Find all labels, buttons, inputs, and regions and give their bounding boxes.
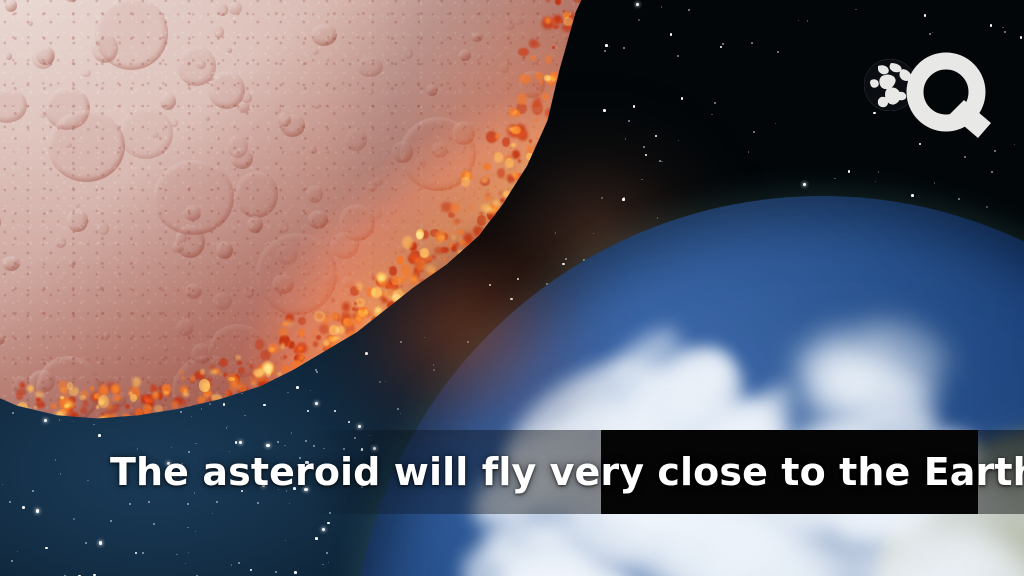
ember: [319, 324, 329, 334]
star: [1020, 36, 1023, 39]
star: [934, 182, 935, 183]
ember: [565, 71, 570, 76]
ember: [356, 282, 363, 291]
star: [932, 32, 933, 33]
ember: [228, 377, 235, 382]
ember: [296, 345, 307, 353]
ember: [535, 145, 542, 150]
ember: [551, 100, 561, 108]
star: [315, 537, 318, 540]
ember: [109, 414, 118, 423]
caption-text: The asteroid will fly very close to the …: [0, 430, 1024, 514]
ember: [366, 312, 371, 318]
star: [638, 19, 639, 20]
ember: [391, 322, 394, 325]
ember: [494, 152, 503, 163]
ember: [537, 174, 545, 183]
ember: [458, 250, 464, 255]
ember: [573, 55, 583, 67]
ember: [298, 329, 305, 338]
ember: [99, 416, 105, 423]
ember: [424, 289, 433, 298]
ember: [328, 335, 334, 340]
ember: [539, 80, 543, 84]
ember: [566, 43, 572, 47]
star: [195, 531, 196, 532]
star: [848, 170, 851, 173]
crater: [267, 399, 276, 407]
star: [633, 105, 636, 108]
ember: [110, 404, 120, 413]
ember: [512, 215, 516, 220]
ember: [511, 172, 516, 176]
star: [17, 551, 18, 552]
ember: [114, 395, 121, 402]
ember: [122, 414, 130, 423]
star: [176, 554, 177, 555]
ember: [425, 283, 432, 289]
ember: [355, 327, 358, 329]
ember: [210, 370, 216, 374]
ember: [298, 317, 307, 326]
ember: [238, 385, 248, 395]
ember: [516, 173, 524, 182]
crater: [8, 411, 19, 422]
ember: [338, 318, 341, 321]
ember: [482, 246, 486, 249]
ember: [563, 98, 567, 102]
ember: [563, 79, 569, 83]
ember: [431, 255, 437, 259]
ember: [546, 0, 550, 2]
ember: [51, 403, 57, 408]
ember: [190, 375, 196, 382]
brand-logo[interactable]: [858, 52, 998, 142]
ember: [410, 250, 420, 261]
star: [185, 563, 186, 564]
ember: [529, 39, 538, 47]
ember: [512, 150, 520, 159]
ember: [578, 24, 585, 29]
ember: [481, 242, 489, 251]
star: [135, 552, 138, 555]
ember: [400, 285, 403, 288]
ember: [342, 302, 350, 312]
ember: [154, 405, 163, 413]
ember: [420, 279, 426, 284]
ember: [269, 343, 278, 354]
ember: [268, 392, 278, 399]
ember: [238, 367, 245, 374]
ember: [434, 247, 442, 254]
ember: [502, 137, 510, 147]
ember: [80, 406, 87, 413]
ember: [97, 421, 101, 425]
star: [1004, 31, 1006, 33]
star: [681, 97, 684, 100]
crater: [505, 238, 509, 242]
ember: [199, 379, 210, 392]
ember: [281, 322, 288, 327]
ember: [534, 72, 544, 79]
star: [994, 150, 996, 152]
ember: [542, 93, 548, 100]
ember: [476, 236, 481, 241]
ember: [354, 302, 357, 305]
ember: [370, 334, 374, 338]
ember: [453, 221, 456, 224]
ember: [499, 213, 510, 222]
ember: [223, 396, 230, 404]
star: [328, 562, 329, 563]
ember: [573, 58, 577, 61]
ember: [68, 412, 79, 420]
ember: [69, 387, 79, 396]
ember: [561, 95, 568, 101]
ember: [577, 63, 582, 70]
star: [807, 20, 808, 21]
ember: [298, 375, 301, 378]
scene-canvas: The asteroid will fly very close to the …: [0, 0, 1024, 576]
ember: [509, 108, 517, 115]
ember: [565, 12, 576, 25]
ember: [336, 326, 345, 335]
ember: [511, 143, 515, 147]
star: [188, 552, 189, 553]
ember: [223, 373, 227, 377]
ember: [274, 378, 278, 382]
ember: [333, 352, 343, 364]
ember: [186, 406, 196, 417]
ember: [434, 271, 443, 280]
star: [775, 123, 776, 124]
ember: [530, 55, 535, 61]
ember: [329, 326, 334, 330]
ember: [538, 177, 543, 180]
star: [45, 547, 48, 550]
ember: [487, 209, 498, 221]
ember: [135, 408, 144, 419]
ember: [545, 17, 552, 24]
ember: [456, 233, 459, 235]
star: [142, 552, 144, 554]
crater: [172, 417, 177, 422]
star: [661, 161, 662, 162]
ember: [402, 236, 413, 249]
ember: [125, 404, 130, 409]
ember: [180, 370, 184, 374]
star: [636, 3, 639, 6]
ember: [420, 255, 431, 264]
ember: [375, 307, 381, 313]
ember: [573, 0, 581, 3]
ember: [417, 268, 424, 274]
ember: [289, 372, 297, 382]
ember: [313, 341, 318, 347]
star: [878, 171, 879, 172]
ember: [219, 358, 228, 367]
crater: [473, 274, 478, 280]
ember: [322, 343, 329, 349]
star: [678, 140, 679, 141]
ember: [562, 90, 566, 94]
ember: [546, 116, 549, 119]
star: [661, 6, 662, 7]
star: [322, 564, 323, 565]
star: [677, 55, 679, 57]
ember: [74, 406, 77, 409]
star: [609, 46, 610, 47]
star: [285, 540, 286, 541]
ember: [211, 394, 222, 403]
star: [722, 43, 724, 45]
ember: [17, 402, 28, 413]
ember: [283, 355, 287, 359]
star: [322, 528, 325, 531]
star: [748, 151, 749, 152]
ember: [151, 384, 155, 389]
star: [85, 542, 87, 544]
ember: [60, 387, 68, 395]
ember: [466, 244, 474, 251]
ember: [36, 397, 42, 402]
ember: [312, 360, 316, 365]
ember: [355, 308, 359, 312]
ember: [237, 361, 241, 364]
ember: [553, 25, 559, 29]
ember: [152, 392, 159, 399]
ember: [451, 244, 457, 252]
ember: [316, 335, 321, 339]
ember: [252, 373, 257, 379]
ember: [567, 61, 578, 69]
ember: [571, 62, 578, 71]
star: [604, 50, 606, 52]
ember: [485, 196, 492, 201]
ember: [563, 10, 566, 13]
ember: [491, 137, 498, 142]
star: [110, 520, 112, 522]
ember: [212, 402, 217, 407]
ember: [507, 125, 516, 137]
star: [238, 562, 240, 564]
ember: [366, 287, 377, 297]
ember: [391, 276, 401, 285]
ember: [111, 384, 120, 393]
ember: [371, 316, 379, 325]
ember: [430, 229, 440, 237]
ember: [325, 316, 330, 320]
crater: [547, 131, 559, 144]
ember: [162, 384, 170, 394]
ember: [556, 79, 566, 86]
ember: [392, 294, 401, 303]
ember: [441, 233, 447, 241]
ember: [451, 235, 456, 240]
star: [720, 46, 723, 49]
ember: [590, 29, 593, 33]
ember: [332, 299, 335, 302]
star: [326, 552, 328, 554]
star: [929, 33, 931, 35]
ember: [180, 407, 189, 415]
ember: [24, 423, 31, 430]
star: [628, 120, 630, 122]
ember: [34, 406, 38, 409]
ember: [505, 158, 514, 168]
ember: [112, 422, 120, 428]
ember: [181, 376, 185, 380]
ember: [96, 405, 100, 409]
star: [688, 9, 690, 11]
ember: [64, 404, 71, 412]
crater: [457, 270, 483, 294]
ember: [500, 198, 506, 203]
ember: [503, 191, 509, 198]
crater: [484, 239, 501, 255]
star: [327, 522, 330, 525]
star: [855, 9, 856, 10]
ember: [536, 98, 540, 101]
letter-q-mark: [915, 61, 991, 138]
ember: [426, 265, 436, 273]
ember: [529, 139, 532, 143]
ember: [372, 276, 376, 280]
star: [834, 178, 835, 179]
ember: [449, 232, 452, 235]
star: [250, 569, 253, 572]
ember: [487, 229, 492, 235]
ember: [285, 314, 294, 323]
ember: [77, 418, 85, 428]
star: [670, 33, 673, 36]
ember: [192, 411, 197, 415]
ember: [443, 258, 446, 261]
ember: [436, 275, 442, 280]
ember: [90, 386, 94, 391]
ember: [235, 355, 241, 360]
crater: [187, 411, 195, 419]
asteroid-ember-speckle: [0, 0, 600, 460]
ember: [523, 56, 526, 59]
ember: [484, 228, 487, 231]
ember: [560, 126, 567, 131]
ember: [480, 231, 487, 238]
ember: [199, 400, 203, 403]
ember: [470, 206, 473, 209]
ember: [552, 46, 555, 49]
ember: [529, 158, 540, 167]
ember: [497, 168, 506, 178]
ember: [277, 372, 282, 376]
star: [73, 518, 74, 519]
ember: [530, 170, 535, 174]
ember: [535, 119, 538, 122]
star: [991, 171, 993, 173]
star: [964, 156, 966, 158]
star: [99, 541, 102, 544]
ember: [47, 418, 55, 424]
star: [798, 20, 799, 21]
ember: [475, 238, 482, 244]
ember: [461, 177, 470, 186]
ember: [183, 392, 189, 397]
star: [751, 42, 753, 44]
star: [1002, 27, 1003, 28]
star: [711, 114, 712, 115]
ember: [389, 266, 397, 276]
ember: [342, 316, 350, 326]
ember: [494, 186, 497, 188]
ember: [568, 81, 573, 86]
ember: [517, 93, 527, 105]
ember: [252, 382, 256, 385]
star: [623, 47, 625, 49]
ember: [221, 398, 231, 409]
star: [655, 135, 658, 138]
ember: [250, 364, 254, 369]
ember: [16, 388, 26, 396]
ember: [519, 74, 530, 84]
ember: [480, 177, 490, 187]
ember: [294, 354, 304, 363]
star: [294, 571, 297, 574]
star: [275, 571, 277, 573]
ember: [536, 170, 544, 178]
ember: [83, 400, 88, 407]
ember: [255, 339, 264, 350]
crater: [563, 68, 573, 77]
star: [924, 14, 927, 17]
star: [625, 138, 626, 139]
ember: [397, 256, 404, 264]
ember: [109, 398, 113, 402]
star: [919, 143, 922, 146]
star: [753, 131, 755, 133]
ember: [560, 20, 564, 24]
star: [643, 146, 645, 148]
ember: [264, 378, 269, 382]
ember: [364, 341, 370, 346]
crater: [288, 368, 330, 410]
ember: [86, 423, 91, 429]
ember: [506, 200, 512, 207]
ember: [545, 55, 553, 64]
ember: [152, 417, 159, 425]
ember: [142, 420, 147, 424]
ember: [100, 419, 104, 422]
ember: [27, 385, 34, 392]
star: [714, 102, 716, 104]
ember: [448, 212, 454, 218]
ember: [81, 390, 88, 398]
ember: [458, 230, 462, 235]
star: [231, 564, 232, 565]
ember: [554, 97, 557, 100]
ember: [125, 417, 133, 427]
ember: [243, 392, 251, 398]
ember: [171, 401, 179, 409]
star: [153, 523, 155, 525]
star: [605, 44, 608, 47]
ember: [188, 407, 193, 412]
ember: [499, 191, 502, 195]
star: [990, 24, 993, 27]
ember: [569, 39, 577, 46]
star: [603, 109, 606, 112]
ember: [129, 392, 132, 394]
asteroid: [0, 0, 600, 460]
